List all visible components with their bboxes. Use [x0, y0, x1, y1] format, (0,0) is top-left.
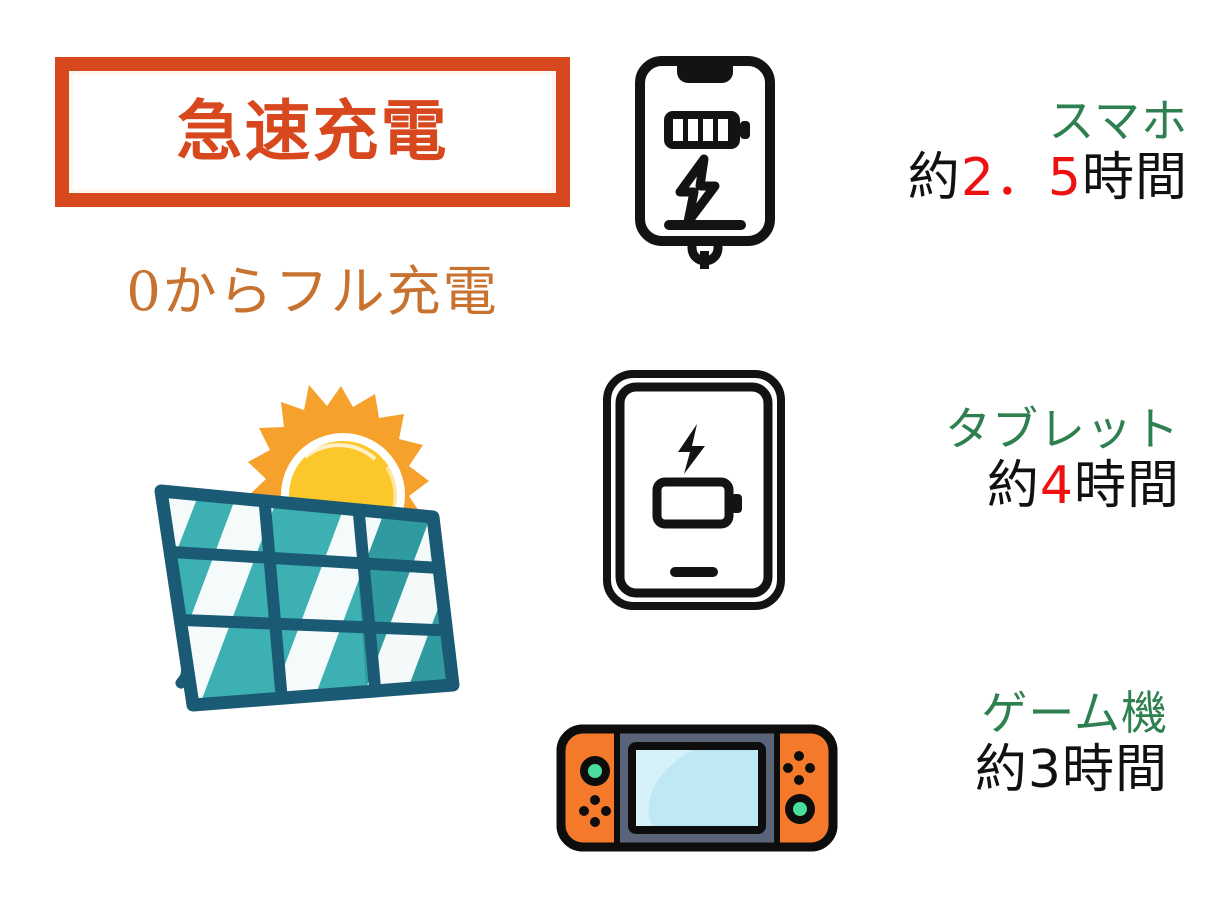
- time-prefix: 約: [908, 148, 961, 208]
- smartphone-charging-icon: [632, 55, 778, 260]
- device-time-game-console: 約3時間: [975, 740, 1168, 801]
- device-name-game-console: ゲーム機: [975, 688, 1168, 740]
- subtitle: 0からフル充電: [55, 262, 570, 321]
- time-prefix: 約: [987, 456, 1040, 516]
- time-suffix: 時間: [1074, 456, 1180, 516]
- device-time-smartphone: 約2．5時間: [908, 148, 1188, 209]
- time-suffix: 時間: [1062, 740, 1168, 800]
- tablet-charging-icon: [600, 368, 788, 613]
- time-suffix: 時間: [1082, 148, 1188, 208]
- time-prefix: 約: [975, 740, 1028, 800]
- device-name-tablet: タブレット: [945, 404, 1180, 456]
- poster-canvas: 急速充電 0からフル充電: [0, 0, 1230, 923]
- time-value: 4: [1040, 456, 1074, 516]
- handheld-game-console-icon: [556, 724, 838, 852]
- page-title: 急速充電: [177, 99, 449, 165]
- device-name-smartphone: スマホ: [908, 96, 1188, 148]
- title-box: 急速充電: [55, 57, 570, 207]
- device-label-tablet: タブレット 約4時間: [945, 404, 1180, 517]
- device-label-smartphone: スマホ 約2．5時間: [908, 96, 1188, 209]
- solar-panel-icon: [115, 383, 515, 733]
- time-value: 2．5: [961, 148, 1082, 208]
- device-time-tablet: 約4時間: [945, 456, 1180, 517]
- time-value: 3: [1028, 740, 1062, 800]
- device-label-game-console: ゲーム機 約3時間: [975, 688, 1168, 801]
